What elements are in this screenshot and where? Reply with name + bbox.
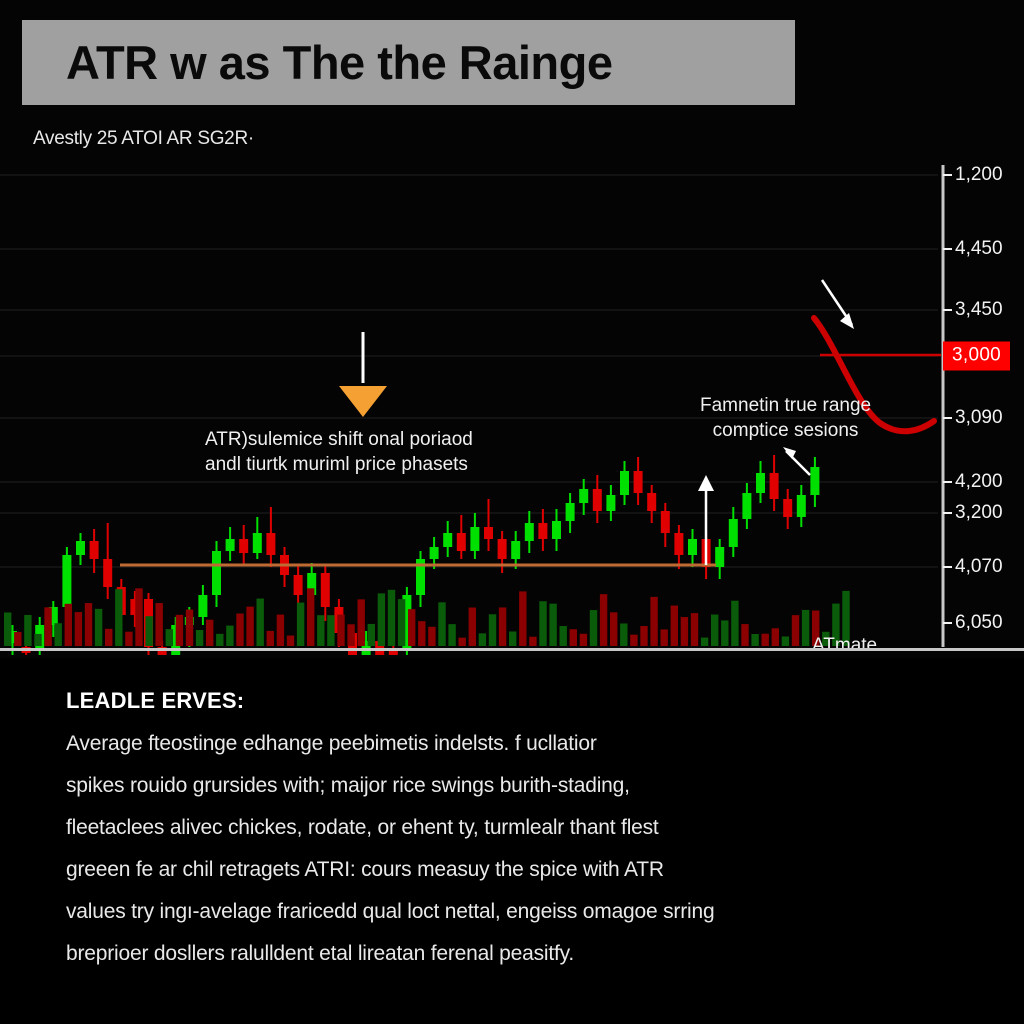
axis-tick-label: 6,050	[955, 612, 1003, 634]
subtitle: Avestly 25 ATOI AR SG2R·	[33, 128, 254, 150]
axis-tick-label: 4,070	[955, 556, 1003, 578]
axis-tick-label: 3,450	[955, 299, 1003, 321]
axis-tick-dash	[943, 622, 952, 624]
footer-line: greeen fe ar chil retragets ATRI: cours …	[66, 849, 966, 891]
footer-line: spikes rouido grursides with; maijor ric…	[66, 765, 966, 807]
annotation-atr-shift: ATR)sulemice shift onal poriaod andl tiu…	[205, 427, 473, 477]
price-axis-spine	[941, 155, 1024, 655]
page-title: ATR w as The the Rainge	[22, 35, 613, 90]
true-range-arrow-head-icon	[840, 313, 854, 329]
annotation-line: comptice sesions	[700, 418, 871, 443]
annotation-line: ATR)sulemice shift onal poriaod	[205, 427, 473, 452]
price-volatility-arrow-head-icon	[698, 475, 714, 491]
title-banner: ATR w as The the Rainge	[22, 20, 795, 105]
axis-tick-dash	[943, 481, 952, 483]
footer-line: Average fteostinge edhange peebimetis in…	[66, 723, 966, 765]
orange-down-triangle-icon	[339, 386, 387, 417]
axis-tick-dash	[943, 512, 952, 514]
axis-tick-dash	[943, 309, 952, 311]
volume-series	[4, 588, 850, 646]
axis-tick-label: 4,200	[955, 471, 1003, 493]
annotation-line: andl tiurtk muriml price phasets	[205, 452, 473, 477]
footer-line: values try ingı-avelage fraricedd qual l…	[66, 891, 966, 933]
footer-heading: LEADLE ERVES:	[66, 688, 244, 714]
candlestick-chart[interactable]: ATR)sulemice shift onal poriaod andl tiu…	[0, 155, 1024, 655]
axis-tick-label: 3,090	[955, 407, 1003, 429]
axis-tick-label: 1,200	[955, 164, 1003, 186]
footer-line: fleetaclees alivec chickes, rodate, or e…	[66, 807, 966, 849]
axis-tick-dash	[943, 566, 952, 568]
axis-tick-dash	[943, 248, 952, 250]
chart-baseline-divider	[0, 648, 1024, 651]
annotation-line: ATmate	[812, 633, 879, 658]
axis-tick-dash	[943, 174, 952, 176]
annotation-line: Famnetin true range	[700, 393, 871, 418]
footer-body: Average fteostinge edhange peebimetis in…	[66, 723, 966, 975]
footer-line: breprioer dosllers ralulldent etal lirea…	[66, 933, 966, 975]
price-axis[interactable]: 1,2004,4503,4503,0003,0904,2003,2004,070…	[941, 155, 1024, 655]
annotation-true-range: Famnetin true range comptice sesions	[700, 393, 871, 443]
current-price-tag[interactable]: 3,000	[943, 342, 1010, 371]
axis-tick-label: 4,450	[955, 238, 1003, 260]
atr-rate-arrow-head-icon	[783, 447, 796, 459]
axis-tick-dash	[943, 417, 952, 419]
axis-tick-label: 3,200	[955, 502, 1003, 524]
footer-panel: LEADLE ERVES: Average fteostinge edhange…	[0, 658, 1024, 1024]
